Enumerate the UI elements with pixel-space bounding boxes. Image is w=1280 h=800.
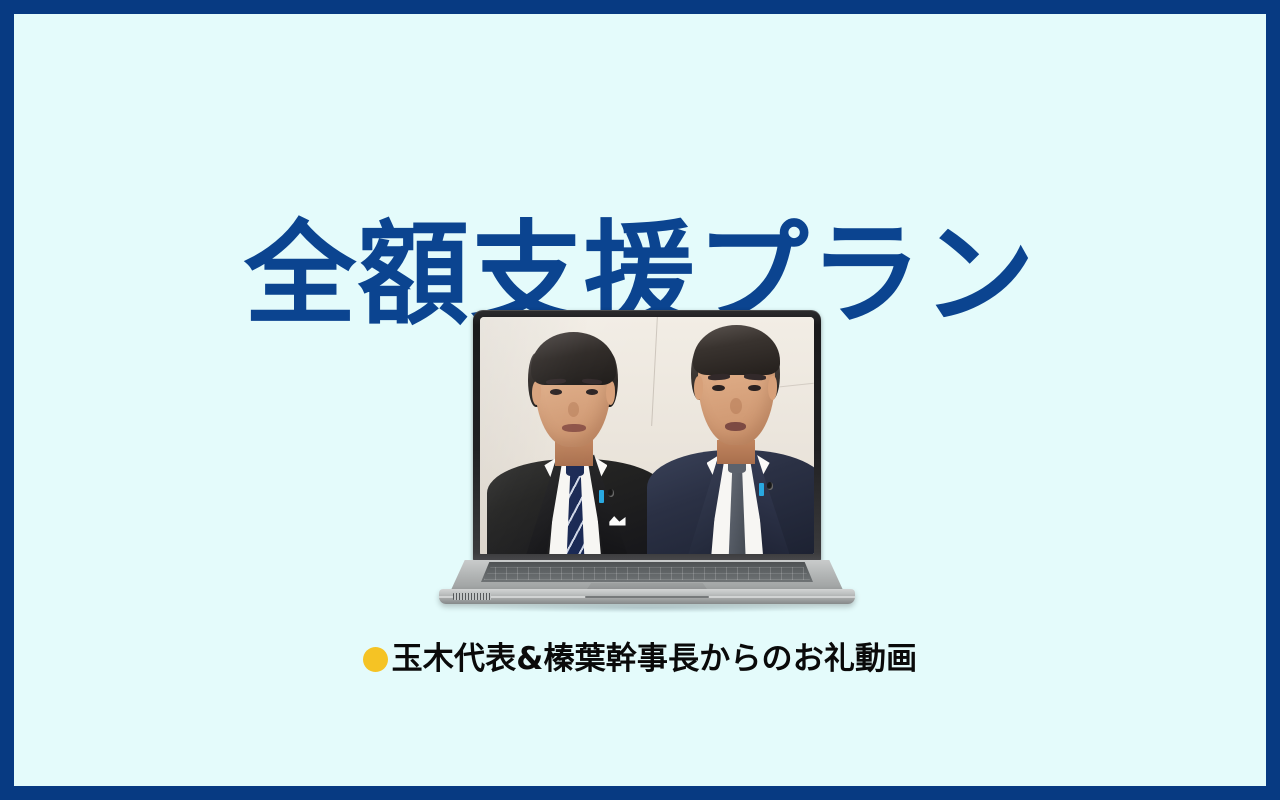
person-figure-right xyxy=(647,317,814,554)
lapel-pin-badge-icon xyxy=(767,482,773,490)
laptop-lid xyxy=(473,310,821,562)
hair-top xyxy=(693,325,780,375)
laptop-base xyxy=(437,560,857,606)
lapel-pin-blue-icon xyxy=(759,483,764,496)
eyebrow-right xyxy=(744,373,766,380)
caption-text: 玉木代表&榛葉幹事長からのお礼動画 xyxy=(392,644,918,675)
filled-circle-icon xyxy=(363,647,388,672)
laptop-keys xyxy=(484,567,810,580)
eye-left xyxy=(712,385,725,392)
hair-top xyxy=(531,332,616,384)
nose xyxy=(568,402,579,416)
slide-canvas: 全額支援プラン xyxy=(14,14,1266,786)
caption: 玉木代表&榛葉幹事長からのお礼動画 xyxy=(14,644,1266,676)
laptop-latch-groove xyxy=(585,596,709,598)
mouth xyxy=(562,424,585,432)
laptop-screen xyxy=(480,317,814,554)
laptop-drop-shadow xyxy=(467,603,827,613)
eye-right xyxy=(748,385,761,392)
ear-left xyxy=(694,376,703,400)
nose xyxy=(730,398,742,415)
ear-right xyxy=(768,376,777,400)
ear-right xyxy=(606,381,615,405)
laptop-device-icon xyxy=(437,310,857,622)
laptop-vent-grille xyxy=(453,593,491,600)
lapel-pin-blue-icon xyxy=(599,490,604,503)
lapel-pin-badge-icon xyxy=(608,489,614,497)
ear-left xyxy=(532,381,541,405)
slide-frame: 全額支援プラン xyxy=(0,0,1280,800)
person-figure-left xyxy=(487,317,667,554)
